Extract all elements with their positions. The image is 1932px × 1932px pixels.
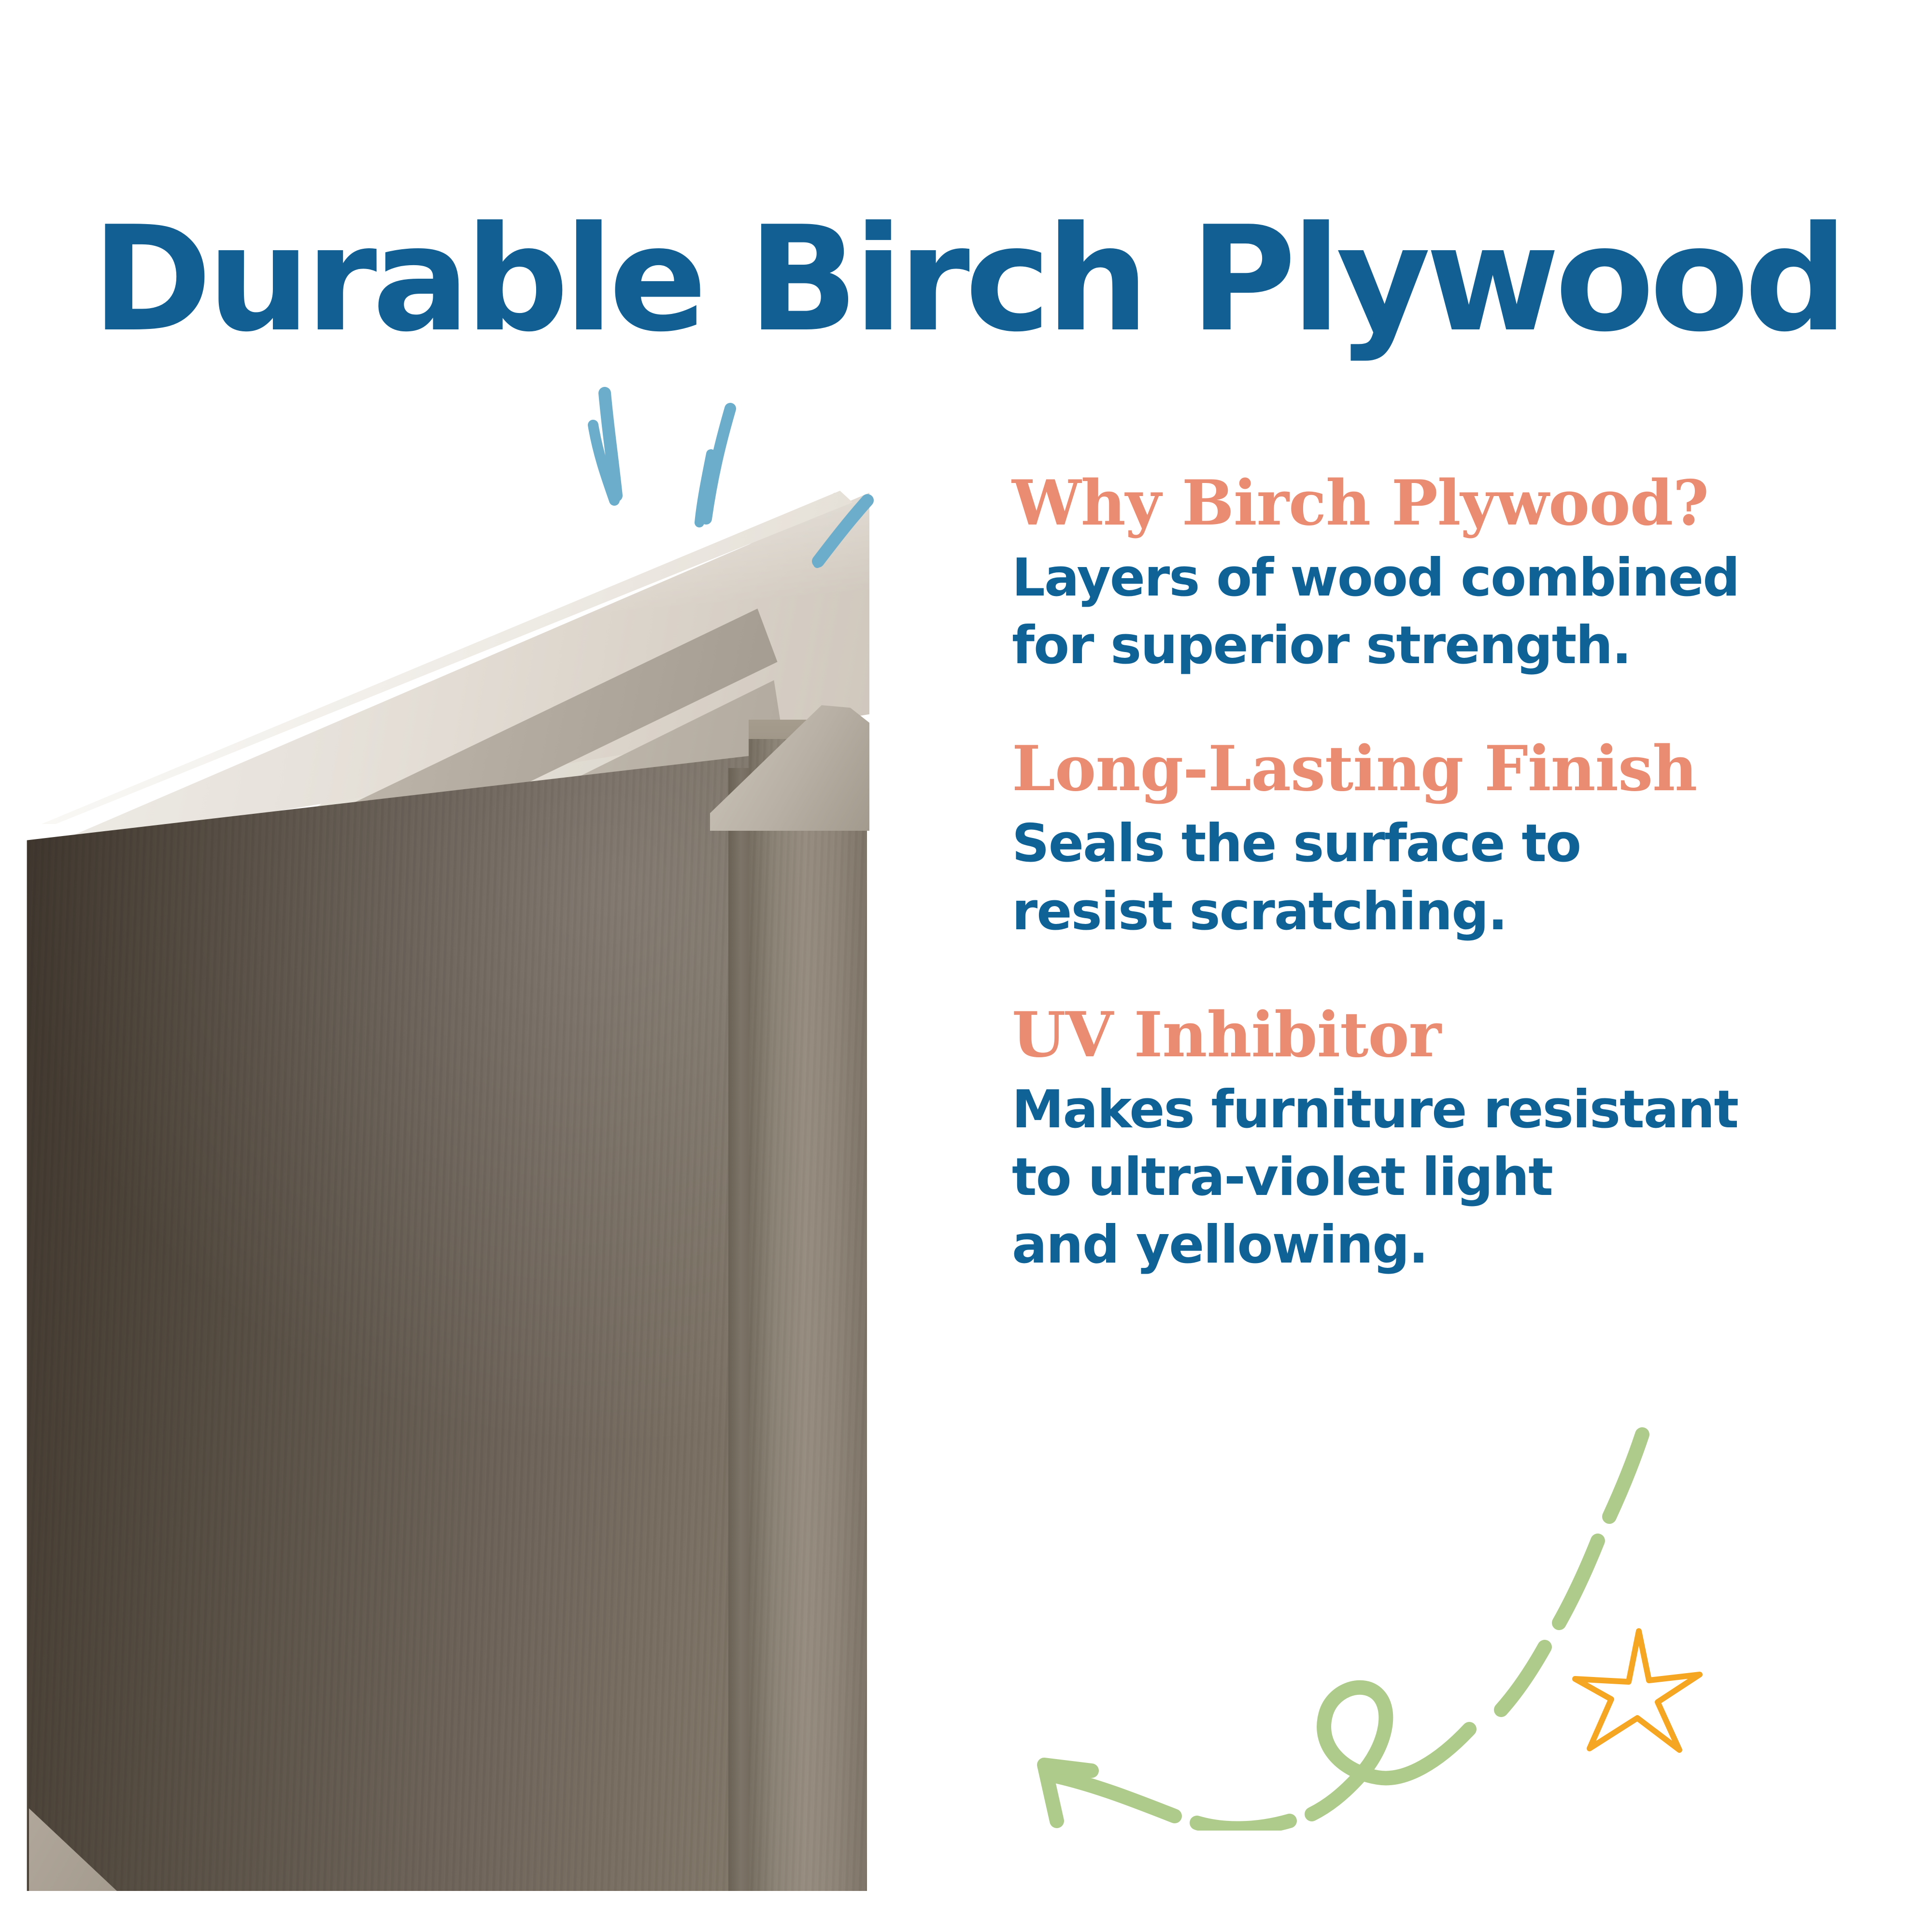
feature-body-2: Seals the surface to resist scratching.	[1012, 810, 1881, 946]
cabinet-interior-cavity	[10, 749, 792, 1891]
infographic-page: Durable Birch Plywood	[0, 0, 1932, 1932]
feature-body-3-line-1: Makes furniture resistant	[1012, 1080, 1738, 1140]
curved-dashed-arrow-icon	[1005, 1396, 1758, 1831]
feature-body-1-line-2: for superior strength.	[1012, 615, 1631, 676]
plywood-cabinet-illustration	[0, 478, 869, 1891]
feature-body-3-line-2: to ultra-violet light	[1012, 1147, 1552, 1207]
feature-item-2: Long-Lasting Finish Seals the surface to…	[1012, 737, 1881, 945]
feature-body-1-line-1: Layers of wood combined	[1012, 548, 1739, 608]
sparkle-icon	[570, 382, 918, 584]
side-grain-texture	[749, 739, 867, 1891]
product-photo	[0, 478, 869, 1891]
feature-body-3-line-3: and yellowing.	[1012, 1215, 1428, 1275]
feature-body-2-line-1: Seals the surface to	[1012, 813, 1580, 874]
feature-item-3: UV Inhibitor Makes furniture resistant t…	[1012, 1003, 1881, 1279]
page-title: Durable Birch Plywood	[92, 207, 1879, 352]
feature-list: Why Birch Plywood? Layers of wood combin…	[1012, 471, 1881, 1279]
feature-heading-2: Long-Lasting Finish	[1012, 737, 1881, 802]
feature-item-1: Why Birch Plywood? Layers of wood combin…	[1012, 471, 1881, 680]
star-icon	[1565, 1618, 1710, 1763]
feature-heading-1: Why Birch Plywood?	[1012, 471, 1881, 537]
feature-body-2-line-2: resist scratching.	[1012, 881, 1507, 942]
feature-body-3: Makes furniture resistant to ultra-viole…	[1012, 1076, 1881, 1279]
cabinet-side-panel	[749, 739, 867, 1891]
feature-heading-3: UV Inhibitor	[1012, 1003, 1881, 1068]
feature-body-1: Layers of wood combined for superior str…	[1012, 544, 1881, 680]
wood-grain-texture	[10, 749, 792, 1891]
